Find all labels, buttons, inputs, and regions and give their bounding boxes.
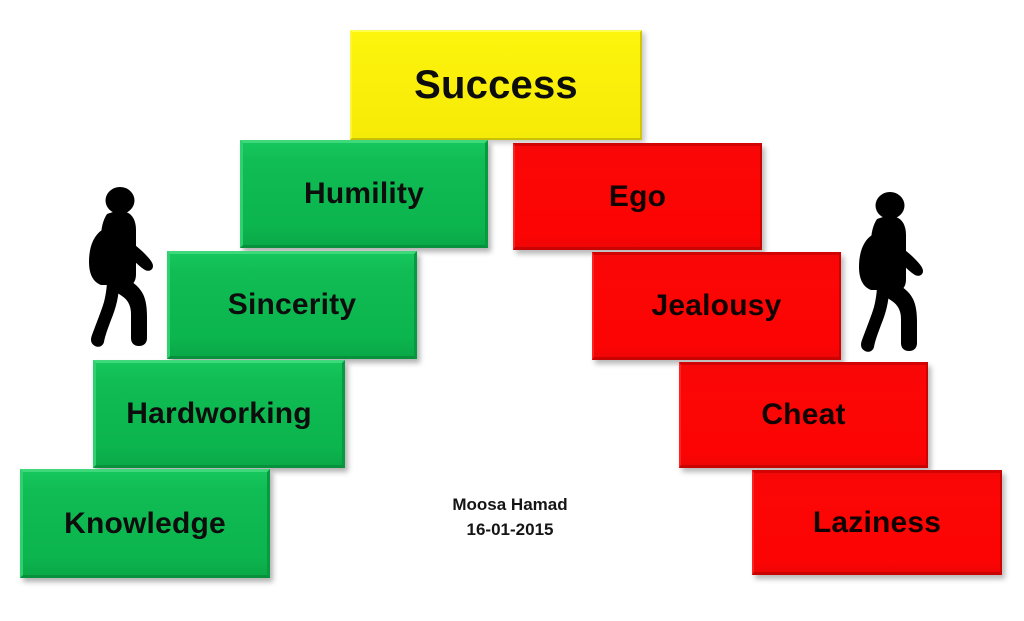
step-knowledge-label: Knowledge xyxy=(64,509,226,539)
credit-author: Moosa Hamad xyxy=(400,493,620,518)
credit-block: Moosa Hamad 16-01-2015 xyxy=(400,493,620,542)
diagram-canvas: Success Humility Sincerity Hardworking K… xyxy=(0,0,1024,621)
step-sincerity-label: Sincerity xyxy=(228,290,357,320)
step-success-label: Success xyxy=(414,65,578,105)
step-humility-label: Humility xyxy=(304,179,424,209)
right-walking-person-icon xyxy=(853,191,933,353)
step-cheat-label: Cheat xyxy=(761,400,845,430)
step-jealousy-label: Jealousy xyxy=(651,291,781,321)
step-knowledge[interactable]: Knowledge xyxy=(20,469,270,578)
step-ego-label: Ego xyxy=(609,182,666,212)
step-success[interactable]: Success xyxy=(350,30,642,140)
step-humility[interactable]: Humility xyxy=(240,140,488,248)
left-walking-person-icon xyxy=(83,186,163,348)
step-hardworking[interactable]: Hardworking xyxy=(93,360,345,468)
step-laziness-label: Laziness xyxy=(813,508,941,538)
step-jealousy[interactable]: Jealousy xyxy=(592,252,841,360)
step-cheat[interactable]: Cheat xyxy=(679,362,928,468)
step-ego[interactable]: Ego xyxy=(513,143,762,250)
step-sincerity[interactable]: Sincerity xyxy=(167,251,417,359)
step-laziness[interactable]: Laziness xyxy=(752,470,1002,575)
step-hardworking-label: Hardworking xyxy=(126,399,312,429)
credit-date: 16-01-2015 xyxy=(400,518,620,543)
